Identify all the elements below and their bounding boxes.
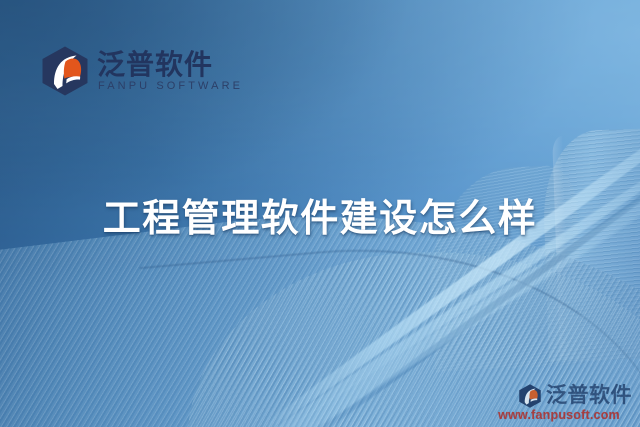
watermark-url: www.fanpusoft.com <box>486 409 632 422</box>
brand-name-en: FANPU SOFTWARE <box>97 81 243 92</box>
banner: 泛普软件 FANPU SOFTWARE 工程管理软件建设怎么样 泛普软件 www… <box>0 0 640 427</box>
fanpu-hexagon-logo-icon <box>519 384 541 408</box>
watermark: 泛普软件 www.fanpusoft.com <box>486 384 632 422</box>
brand-logo-wordmark: 泛普软件 FANPU SOFTWARE <box>97 50 243 92</box>
fanpu-hexagon-logo-icon <box>42 46 88 96</box>
watermark-brand-name: 泛普软件 <box>546 385 632 406</box>
banner-headline: 工程管理软件建设怎么样 <box>0 196 640 244</box>
brand-logo: 泛普软件 FANPU SOFTWARE <box>42 46 243 96</box>
watermark-logo-row: 泛普软件 <box>486 384 632 408</box>
background-tower-right-highlight <box>552 136 570 358</box>
facade-highlight-band-1 <box>252 101 640 427</box>
background-tower-right <box>541 128 640 362</box>
brand-name-cn: 泛普软件 <box>97 50 243 80</box>
